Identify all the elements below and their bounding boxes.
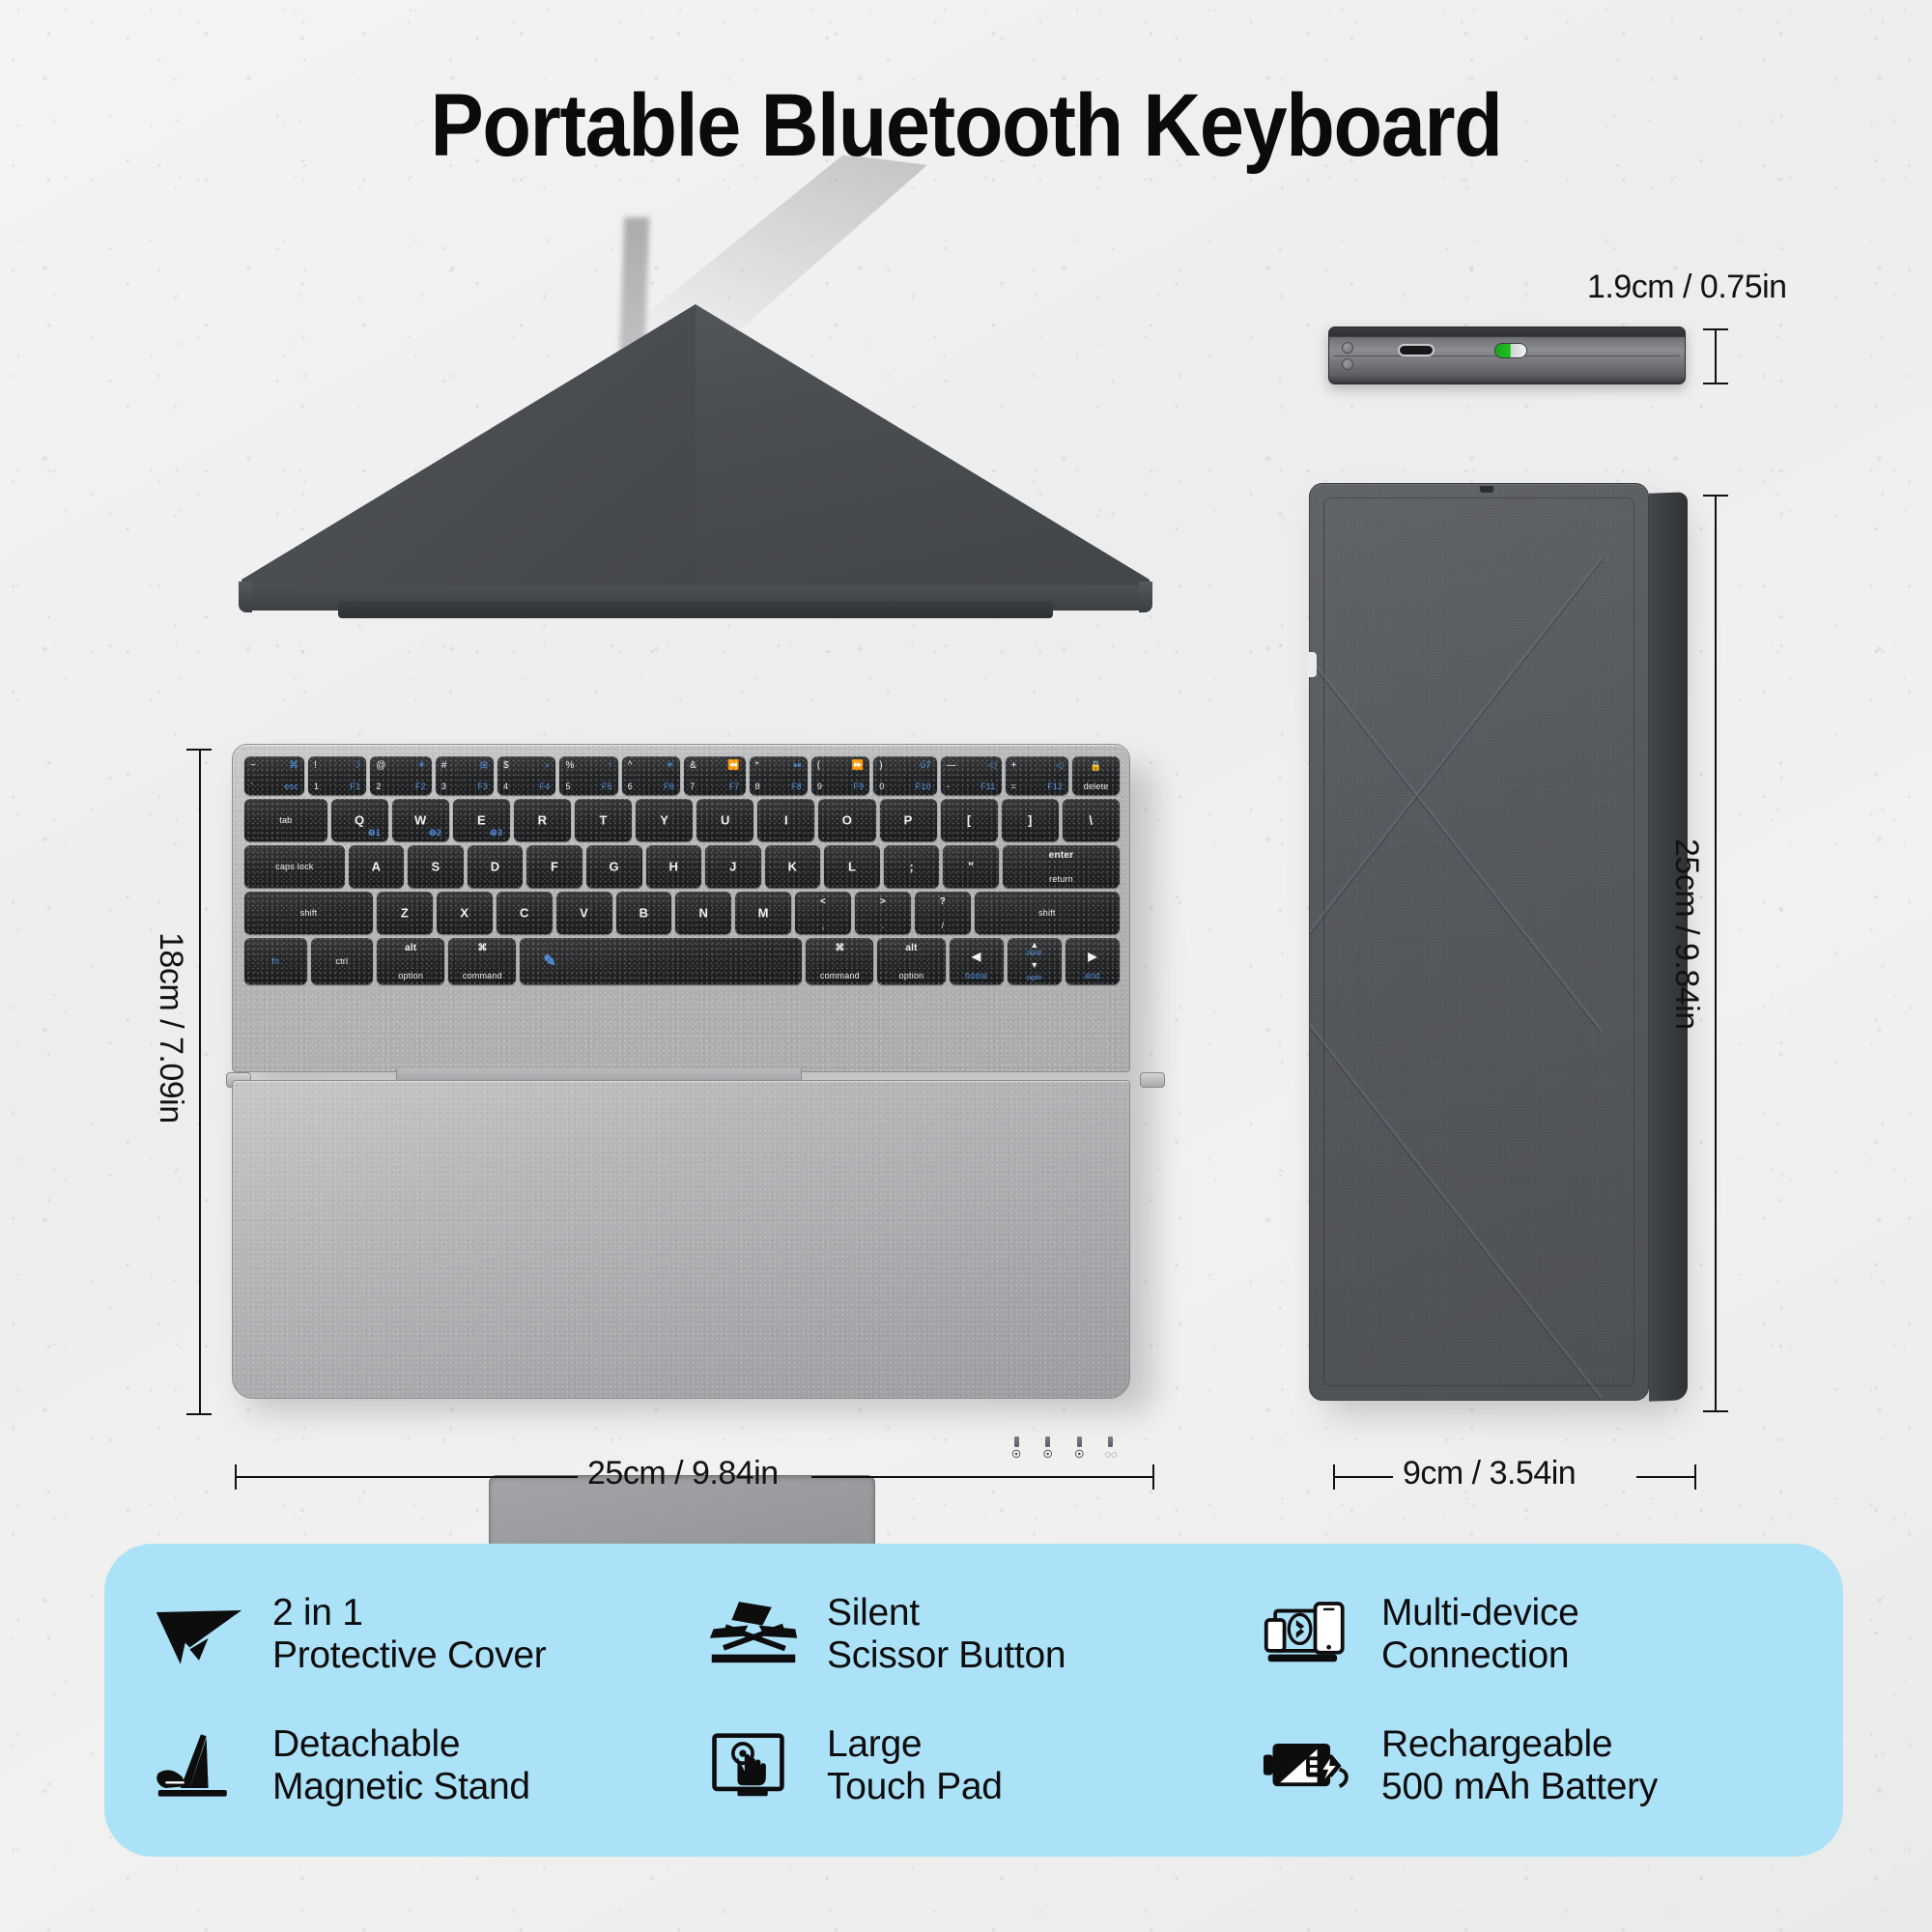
key-8-fnlabel: F8 <box>791 781 802 791</box>
key-2-fnlabel: F2 <box>415 781 426 791</box>
key-pgup-label: pgup <box>1008 950 1062 956</box>
dimension-cap-bottom-left <box>186 1413 212 1415</box>
dimension-line-keyboard-height <box>199 749 201 1415</box>
dimension-cap-top-left <box>186 749 212 751</box>
key-f[interactable]: F <box>526 845 582 888</box>
dimension-cap-case-bottom <box>1703 1410 1728 1412</box>
dimension-line-keyboard-width-right <box>811 1476 1154 1478</box>
usb-c-port-icon <box>1398 344 1435 356</box>
feature-battery-text: Rechargeable 500 mAh Battery <box>1381 1723 1658 1807</box>
key-5-fnlabel: F5 <box>602 781 612 791</box>
key-row-home: caps lock A S D F G H J K L ; " enter re… <box>244 845 1120 888</box>
key-4[interactable]: $⌕ 4F4 <box>497 756 555 795</box>
keyboard-palm-rest: ☉ ☉ ☉ ◌◌ <box>232 1080 1130 1399</box>
key-fn[interactable]: fn <box>244 938 307 984</box>
feature-magnetic-stand-text: Detachable Magnetic Stand <box>272 1723 530 1807</box>
key-alt-right[interactable]: alt option <box>877 938 945 984</box>
bluetooth-status-icon-2: ☉ <box>1037 1450 1059 1461</box>
key-esc-fnicon: ⌘ <box>289 760 298 771</box>
feature-protective-cover-text: 2 in 1 Protective Cover <box>272 1592 546 1676</box>
key-5[interactable]: %↑ 5F5 <box>559 756 617 795</box>
key-b[interactable]: B <box>616 892 672 934</box>
arrow-down-icon: ▼ <box>1008 960 1062 970</box>
key-minus-sub: - <box>947 781 950 791</box>
bluetooth-status-icon-1: ☉ <box>1006 1450 1027 1461</box>
key-4-fnicon: ⌕ <box>545 760 551 771</box>
magnetic-stand-icon <box>151 1724 247 1807</box>
arrow-right-icon: ▶ <box>1065 950 1120 963</box>
key-7[interactable]: &⏪ 7F7 <box>684 756 746 795</box>
key-u[interactable]: U <box>696 799 753 841</box>
key-command-left[interactable]: ⌘ command <box>448 938 516 984</box>
lock-icon: 🔒 <box>1072 761 1120 772</box>
key-7-sub: 7 <box>690 781 695 791</box>
key-minus-fnicon: ◁ <box>988 760 996 771</box>
cover-panel <box>241 261 1150 744</box>
key-matrix: ~⌘ `esc !☽ 1F1 @☀ 2F2 #⊞ 3F3 <box>244 756 1120 988</box>
key-d[interactable]: D <box>468 845 524 888</box>
key-shift-left[interactable]: shift <box>244 892 373 934</box>
key-6[interactable]: ^☀ 6F6 <box>622 756 680 795</box>
status-led-4: ◌◌ <box>1100 1436 1122 1461</box>
feature-touch-pad: Large Touch Pad <box>705 1702 1250 1830</box>
key-n[interactable]: N <box>675 892 731 934</box>
key-equals-sub: = <box>1011 781 1016 791</box>
bluetooth-badge-3: ⚙3 <box>490 828 502 838</box>
key-command-right[interactable]: ⌘ command <box>806 938 873 984</box>
feature-2-line-2: Scissor Button <box>827 1634 1065 1677</box>
command-icon-right: ⌘ <box>806 943 873 953</box>
key-c[interactable]: C <box>497 892 553 934</box>
feature-multi-device-text: Multi-device Connection <box>1381 1592 1578 1676</box>
feature-6-line-1: Rechargeable <box>1381 1723 1658 1766</box>
key-period[interactable]: > . <box>855 892 911 934</box>
cover-hinge <box>338 601 1053 618</box>
dimension-cap-case-top <box>1703 495 1728 497</box>
key-5-fnicon: ↑ <box>608 760 612 771</box>
dimension-line-keyboard-width-left <box>235 1476 578 1478</box>
key-s[interactable]: S <box>408 845 464 888</box>
key-5-main: % <box>565 760 574 771</box>
key-quote[interactable]: " <box>943 845 999 888</box>
key-row-qwerty: tab Q⚙1 W⚙2 E⚙3 R T Y U I O P [ ] \ <box>244 799 1120 841</box>
key-0-fnicon: ὐ7 <box>921 760 931 771</box>
paper-plane-icon <box>151 1593 247 1676</box>
key-j[interactable]: J <box>705 845 761 888</box>
keyboard-upper-deck: ~⌘ `esc !☽ 1F1 @☀ 2F2 #⊞ 3F3 <box>232 744 1130 1072</box>
case-edge-view <box>1328 327 1686 384</box>
key-3-sub: 3 <box>441 781 446 791</box>
key-shift-right[interactable]: shift <box>975 892 1120 934</box>
folded-case-view <box>1309 483 1686 1410</box>
dimension-cap-case-width-right <box>1694 1464 1696 1490</box>
key-g[interactable]: G <box>586 845 642 888</box>
key-8-main: * <box>755 760 759 771</box>
key-8-sub: 8 <box>755 781 760 791</box>
key-bracket-right[interactable]: ] <box>1002 799 1059 841</box>
feature-1-line-1: 2 in 1 <box>272 1592 546 1634</box>
key-i[interactable]: I <box>757 799 814 841</box>
dimension-label-case-width: 9cm / 3.54in <box>1403 1455 1576 1492</box>
key-bracket-left[interactable]: [ <box>941 799 998 841</box>
key-6-sub: 6 <box>628 781 633 791</box>
feature-5-line-2: Touch Pad <box>827 1766 1003 1808</box>
key-a[interactable]: A <box>349 845 405 888</box>
key-1[interactable]: !☽ 1F1 <box>308 756 366 795</box>
infographic-canvas: Portable Bluetooth Keyboard ~⌘ `esc <box>0 0 1932 1932</box>
multi-device-icon <box>1260 1593 1356 1676</box>
key-arrow-right[interactable]: ▶ end <box>1065 938 1120 984</box>
status-led-1: ☉ <box>1006 1436 1027 1461</box>
key-space[interactable]: ✎ <box>520 938 802 984</box>
key-2[interactable]: @☀ 2F2 <box>370 756 432 795</box>
key-6-fnlabel: F6 <box>664 781 674 791</box>
status-led-2: ☉ <box>1037 1436 1059 1461</box>
key-caps-lock[interactable]: caps lock <box>244 845 345 888</box>
dimension-label-keyboard-height: 18cm / 7.09in <box>152 932 189 1123</box>
key-z[interactable]: Z <box>377 892 433 934</box>
feature-battery: Rechargeable 500 mAh Battery <box>1260 1702 1804 1830</box>
key-semicolon[interactable]: ; <box>884 845 940 888</box>
feature-magnetic-stand: Detachable Magnetic Stand <box>151 1702 696 1830</box>
key-2-fnicon: ☀ <box>417 760 426 771</box>
key-5-sub: 5 <box>565 781 570 791</box>
cover-triangle-left <box>241 304 696 594</box>
key-delete[interactable]: 🔒 delete <box>1072 756 1120 795</box>
key-esc-fnlabel: esc <box>284 781 298 791</box>
key-ctrl[interactable]: ctrl <box>311 938 374 984</box>
case-front-face <box>1309 483 1649 1401</box>
key-arrow-updown[interactable]: ▲ pgup ▼ pgdn <box>1008 938 1062 984</box>
key-3-fnicon: ⊞ <box>480 760 488 771</box>
key-9-main: ( <box>817 760 820 771</box>
case-edge-magnet-1 <box>1342 342 1353 354</box>
key-p[interactable]: P <box>880 799 937 841</box>
keyboard-product-photo: ~⌘ `esc !☽ 1F1 @☀ 2F2 #⊞ 3F3 <box>232 744 1159 1420</box>
key-9-fnicon: ⏩ <box>852 760 864 771</box>
key-enter[interactable]: enter return <box>1003 845 1120 888</box>
key-3-main: # <box>441 760 447 771</box>
key-1-fnicon: ☽ <box>352 760 360 771</box>
key-x[interactable]: X <box>437 892 493 934</box>
touch-pad-icon <box>705 1724 802 1807</box>
case-side-notch <box>1307 652 1317 677</box>
bluetooth-status-icon-3: ☉ <box>1068 1450 1090 1461</box>
feature-1-line-2: Protective Cover <box>272 1634 546 1677</box>
power-switch[interactable] <box>1494 343 1527 358</box>
key-3[interactable]: #⊞ 3F3 <box>436 756 494 795</box>
feature-4-line-1: Detachable <box>272 1723 530 1766</box>
key-4-main: $ <box>503 760 509 771</box>
key-0-fnlabel: F10 <box>916 781 931 791</box>
key-r[interactable]: R <box>514 799 571 841</box>
key-h[interactable]: H <box>646 845 702 888</box>
key-8-fnicon: ⏯ <box>794 760 802 771</box>
arrow-up-icon: ▲ <box>1008 940 1062 950</box>
key-o[interactable]: O <box>818 799 875 841</box>
status-led-3: ☉ <box>1068 1436 1090 1461</box>
feature-panel: 2 in 1 Protective Cover Silent Scissor B… <box>104 1544 1843 1857</box>
key-esc-sub: ` <box>250 781 253 791</box>
key-esc[interactable]: ~⌘ `esc <box>244 756 304 795</box>
key-row-function: ~⌘ `esc !☽ 1F1 @☀ 2F2 #⊞ 3F3 <box>244 756 1120 795</box>
case-edge-magnet-2 <box>1342 358 1353 370</box>
key-7-fnicon: ⏪ <box>727 760 739 771</box>
key-1-main: ! <box>314 760 317 771</box>
cover-edge-left <box>239 582 252 612</box>
key-pgdn-label: pgdn <box>1008 975 1062 981</box>
bluetooth-badge-2: ⚙2 <box>429 828 441 838</box>
key-y[interactable]: Y <box>636 799 693 841</box>
feature-5-line-1: Large <box>827 1723 1003 1766</box>
feature-6-line-2: 500 mAh Battery <box>1381 1766 1658 1808</box>
dimension-line-case-height <box>1715 495 1717 1412</box>
feature-2-line-1: Silent <box>827 1592 1065 1634</box>
key-2-main: @ <box>376 760 385 771</box>
key-equals[interactable]: +◁ =F12 <box>1006 756 1069 795</box>
battery-status-icon: ◌◌ <box>1100 1450 1122 1461</box>
led-bar-3 <box>1077 1436 1082 1447</box>
feature-touch-pad-text: Large Touch Pad <box>827 1723 1003 1807</box>
led-bar-2 <box>1045 1436 1050 1447</box>
page-title: Portable Bluetooth Keyboard <box>97 75 1835 177</box>
command-icon: ⌘ <box>448 943 516 953</box>
feature-3-line-2: Connection <box>1381 1634 1578 1677</box>
dimension-label-keyboard-width: 25cm / 9.84in <box>587 1455 779 1492</box>
key-0-sub: 0 <box>879 781 884 791</box>
key-row-modifiers: fn ctrl alt option ⌘ command ✎ <box>244 938 1120 984</box>
key-equals-fnlabel: F12 <box>1047 781 1063 791</box>
dimension-cap-thickness-top <box>1703 328 1728 330</box>
protective-cover-flap <box>241 261 1150 744</box>
key-4-fnlabel: F4 <box>540 781 551 791</box>
key-6-fnicon: ☀ <box>666 760 674 771</box>
key-0[interactable]: )ὐ7 0F10 <box>873 756 937 795</box>
feature-multi-device: Multi-device Connection <box>1260 1571 1804 1698</box>
feature-3-line-1: Multi-device <box>1381 1592 1578 1634</box>
key-1-sub: 1 <box>314 781 319 791</box>
arrow-left-icon: ◀ <box>950 950 1004 963</box>
dimension-line-case-width-left <box>1333 1476 1393 1478</box>
feature-scissor-button-text: Silent Scissor Button <box>827 1592 1065 1676</box>
dimension-cap-case-width-left <box>1333 1464 1335 1490</box>
key-delete-label: delete <box>1072 781 1120 791</box>
key-l[interactable]: L <box>824 845 880 888</box>
key-k[interactable]: K <box>765 845 821 888</box>
case-inner-border <box>1323 497 1634 1386</box>
key-row-bottom-letters: shift Z X C V B N M < , > . <box>244 892 1120 934</box>
key-7-fnlabel: F7 <box>729 781 740 791</box>
key-backslash[interactable]: \ <box>1063 799 1120 841</box>
feature-4-line-2: Magnetic Stand <box>272 1766 530 1808</box>
key-7-main: & <box>690 760 696 771</box>
key-9[interactable]: (⏩ 9F9 <box>811 756 869 795</box>
key-9-fnlabel: F9 <box>853 781 864 791</box>
bluetooth-badge-1: ⚙1 <box>368 828 381 838</box>
dimension-label-case-thickness: 1.9cm / 0.75in <box>1587 269 1787 306</box>
feature-scissor-button: Silent Scissor Button <box>705 1571 1250 1698</box>
dimension-cap-right <box>1152 1464 1154 1490</box>
cover-edge-right <box>1139 582 1152 612</box>
key-1-fnlabel: F1 <box>350 781 360 791</box>
led-bar-4 <box>1108 1436 1113 1447</box>
dimension-label-case-height: 25cm / 9.84in <box>1667 838 1705 1030</box>
dimension-cap-left <box>235 1464 237 1490</box>
scissor-switch-icon <box>705 1593 802 1676</box>
status-led-group: ☉ ☉ ☉ ◌◌ <box>1006 1436 1122 1475</box>
key-2-sub: 2 <box>376 781 381 791</box>
case-camera-cutout <box>1480 486 1493 493</box>
key-slash[interactable]: ? / <box>915 892 971 934</box>
key-equals-main: + <box>1011 760 1017 771</box>
key-arrow-left[interactable]: ◀ home <box>950 938 1004 984</box>
hinge-pin-right <box>1140 1072 1165 1088</box>
battery-charge-icon <box>1260 1724 1356 1807</box>
key-minus-main: — <box>947 760 956 771</box>
key-esc-main: ~ <box>250 760 256 771</box>
key-v[interactable]: V <box>556 892 612 934</box>
key-t[interactable]: T <box>575 799 632 841</box>
key-m[interactable]: M <box>735 892 791 934</box>
key-6-main: ^ <box>628 760 633 771</box>
key-8[interactable]: *⏯ 8F8 <box>750 756 808 795</box>
dimension-line-case-width-right <box>1636 1476 1696 1478</box>
key-minus[interactable]: —◁ -F11 <box>941 756 1002 795</box>
dimension-cap-thickness-bottom <box>1703 383 1728 384</box>
key-alt-left[interactable]: alt option <box>377 938 444 984</box>
key-equals-fnicon: ◁ <box>1056 760 1064 771</box>
key-0-main: ) <box>879 760 882 771</box>
key-comma[interactable]: < , <box>795 892 851 934</box>
key-9-sub: 9 <box>817 781 822 791</box>
key-tab[interactable]: tab <box>244 799 327 841</box>
language-switch-icon: ✎ <box>520 952 802 971</box>
key-3-fnlabel: F3 <box>477 781 488 791</box>
feature-protective-cover: 2 in 1 Protective Cover <box>151 1571 696 1698</box>
key-4-sub: 4 <box>503 781 508 791</box>
key-minus-fnlabel: F11 <box>980 781 995 791</box>
key-w[interactable]: W⚙2 <box>392 799 449 841</box>
key-e[interactable]: E⚙3 <box>453 799 510 841</box>
led-bar-1 <box>1014 1436 1019 1447</box>
key-q[interactable]: Q⚙1 <box>331 799 388 841</box>
dimension-line-case-thickness <box>1715 328 1717 384</box>
